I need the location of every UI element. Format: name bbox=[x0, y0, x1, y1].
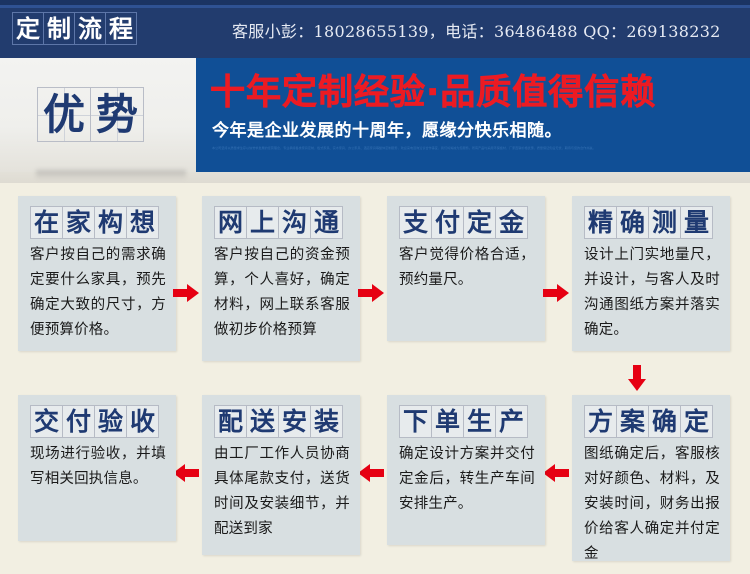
flow-step-title-char: 量 bbox=[680, 206, 713, 239]
banner-fine-print: 本公司坚持以质量求生存以信誉求发展的经营理念，专业承接各类家具定制，板式家具、实… bbox=[212, 146, 732, 150]
flow-step-card-1: 在 家 构 想 客户按自己的需求确定要什么家具，预先确定大致的尺寸，方便预算价格… bbox=[18, 196, 176, 351]
flow-step-title-3: 支 付 定 金 bbox=[399, 206, 545, 239]
flow-step-title-char: 方 bbox=[584, 405, 617, 438]
flow-step-title-char: 网 bbox=[214, 206, 247, 239]
advantage-badge: 优 势 bbox=[37, 87, 143, 142]
arrow-left-icon bbox=[542, 463, 570, 483]
banner-blue-panel: 十年定制经验·品质值得信赖 今年是企业发展的十周年，愿缘分快乐相随。 本公司坚持… bbox=[196, 58, 750, 172]
flow-step-title-char: 金 bbox=[495, 206, 528, 239]
flow-step-text-8: 现场进行验收，并填写相关回执信息。 bbox=[30, 442, 166, 492]
arrow-left-icon bbox=[357, 463, 385, 483]
flow-step-title-char: 构 bbox=[94, 206, 127, 239]
flow-step-text-7: 由工厂工作人员协商具体尾款支付，送货时间及安装细节，并配送到家 bbox=[214, 442, 350, 542]
flow-step-title-char: 想 bbox=[126, 206, 159, 239]
page-header: 定 制 流 程 客服小彭：18028655139，电话：36486488 QQ：… bbox=[0, 0, 750, 58]
flow-step-title-char: 通 bbox=[310, 206, 343, 239]
arrow-down-icon bbox=[627, 364, 647, 392]
flow-step-title-char: 定 bbox=[680, 405, 713, 438]
flow-step-title-1: 在 家 构 想 bbox=[30, 206, 176, 239]
flow-step-title-char: 付 bbox=[62, 405, 95, 438]
flow-step-title-char: 确 bbox=[616, 206, 649, 239]
flow-step-title-char: 付 bbox=[431, 206, 464, 239]
page-title: 定 制 流 程 bbox=[12, 12, 136, 45]
flow-step-title-char: 精 bbox=[584, 206, 617, 239]
flow-step-card-5: 方 案 确 定 图纸确定后，客服核对好颜色、材料，及安装时间，财务出报价给客人确… bbox=[572, 395, 730, 561]
banner-subtitle: 今年是企业发展的十周年，愿缘分快乐相随。 bbox=[212, 116, 562, 141]
flow-step-title-char: 装 bbox=[310, 405, 343, 438]
flow-step-title-7: 配 送 安 装 bbox=[214, 405, 360, 438]
page-title-char: 流 bbox=[74, 12, 106, 45]
flow-step-title-char: 安 bbox=[278, 405, 311, 438]
advantage-badge-panel: 优 势 bbox=[0, 58, 196, 172]
flow-step-text-4: 设计上门实地量尺，并设计，与客人及时沟通图纸方案并落实确定。 bbox=[584, 243, 720, 343]
header-top-stripe-light bbox=[0, 5, 750, 8]
flow-step-title-char: 确 bbox=[648, 405, 681, 438]
flow-step-text-5: 图纸确定后，客服核对好颜色、材料，及安装时间，财务出报价给客人确定并付定金 bbox=[584, 442, 720, 567]
flow-step-title-char: 配 bbox=[214, 405, 247, 438]
arrow-left-icon bbox=[172, 463, 200, 483]
contact-info: 客服小彭：18028655139，电话：36486488 QQ：26913823… bbox=[232, 18, 721, 42]
flow-step-card-6: 下 单 生 产 确定设计方案并交付定金后，转生产车间安排生产。 bbox=[387, 395, 545, 545]
badge-shadow bbox=[36, 170, 186, 180]
advantage-badge-char: 势 bbox=[90, 87, 144, 142]
flow-step-card-8: 交 付 验 收 现场进行验收，并填写相关回执信息。 bbox=[18, 395, 176, 541]
flow-step-card-4: 精 确 测 量 设计上门实地量尺，并设计，与客人及时沟通图纸方案并落实确定。 bbox=[572, 196, 730, 351]
flow-step-title-char: 生 bbox=[463, 405, 496, 438]
flow-step-title-2: 网 上 沟 通 bbox=[214, 206, 360, 239]
page-title-char: 定 bbox=[12, 12, 44, 45]
banner-headline: 十年定制经验·品质值得信赖 bbox=[210, 64, 656, 115]
flow-step-card-7: 配 送 安 装 由工厂工作人员协商具体尾款支付，送货时间及安装细节，并配送到家 bbox=[202, 395, 360, 555]
page-title-char: 制 bbox=[43, 12, 75, 45]
flow-step-card-2: 网 上 沟 通 客户按自己的资金预算，个人喜好，确定材料，网上联系客服做初步价格… bbox=[202, 196, 360, 361]
process-flow: 在 家 构 想 客户按自己的需求确定要什么家具，预先确定大致的尺寸，方便预算价格… bbox=[0, 183, 750, 574]
flow-step-title-char: 下 bbox=[399, 405, 432, 438]
flow-step-title-char: 产 bbox=[495, 405, 528, 438]
flow-step-text-1: 客户按自己的需求确定要什么家具，预先确定大致的尺寸，方便预算价格。 bbox=[30, 243, 166, 343]
flow-step-title-char: 送 bbox=[246, 405, 279, 438]
flow-step-title-char: 测 bbox=[648, 206, 681, 239]
flow-step-card-3: 支 付 定 金 客户觉得价格合适，预约量尺。 bbox=[387, 196, 545, 341]
advantage-badge-char: 优 bbox=[37, 87, 91, 142]
advantage-banner: 优 势 十年定制经验·品质值得信赖 今年是企业发展的十周年，愿缘分快乐相随。 本… bbox=[0, 58, 750, 183]
flow-step-title-char: 沟 bbox=[278, 206, 311, 239]
flow-step-title-6: 下 单 生 产 bbox=[399, 405, 545, 438]
advantage-badge-char-text: 优 bbox=[43, 90, 85, 139]
flow-step-title-char: 支 bbox=[399, 206, 432, 239]
flow-step-text-6: 确定设计方案并交付定金后，转生产车间安排生产。 bbox=[399, 442, 535, 517]
flow-step-title-4: 精 确 测 量 bbox=[584, 206, 730, 239]
flow-step-title-8: 交 付 验 收 bbox=[30, 405, 176, 438]
flow-step-text-3: 客户觉得价格合适，预约量尺。 bbox=[399, 243, 535, 293]
flow-step-title-char: 在 bbox=[30, 206, 63, 239]
flow-step-title-5: 方 案 确 定 bbox=[584, 405, 730, 438]
flow-step-title-char: 交 bbox=[30, 405, 63, 438]
arrow-right-icon bbox=[542, 283, 570, 303]
flow-step-title-char: 收 bbox=[126, 405, 159, 438]
arrow-right-icon bbox=[357, 283, 385, 303]
page-title-char: 程 bbox=[105, 12, 137, 45]
flow-step-title-char: 单 bbox=[431, 405, 464, 438]
advantage-badge-char-text: 势 bbox=[96, 90, 138, 139]
flow-step-title-char: 上 bbox=[246, 206, 279, 239]
flow-step-title-char: 家 bbox=[62, 206, 95, 239]
flow-step-title-char: 定 bbox=[463, 206, 496, 239]
flow-step-text-2: 客户按自己的资金预算，个人喜好，确定材料，网上联系客服做初步价格预算 bbox=[214, 243, 350, 343]
flow-step-title-char: 案 bbox=[616, 405, 649, 438]
arrow-right-icon bbox=[172, 283, 200, 303]
flow-step-title-char: 验 bbox=[94, 405, 127, 438]
